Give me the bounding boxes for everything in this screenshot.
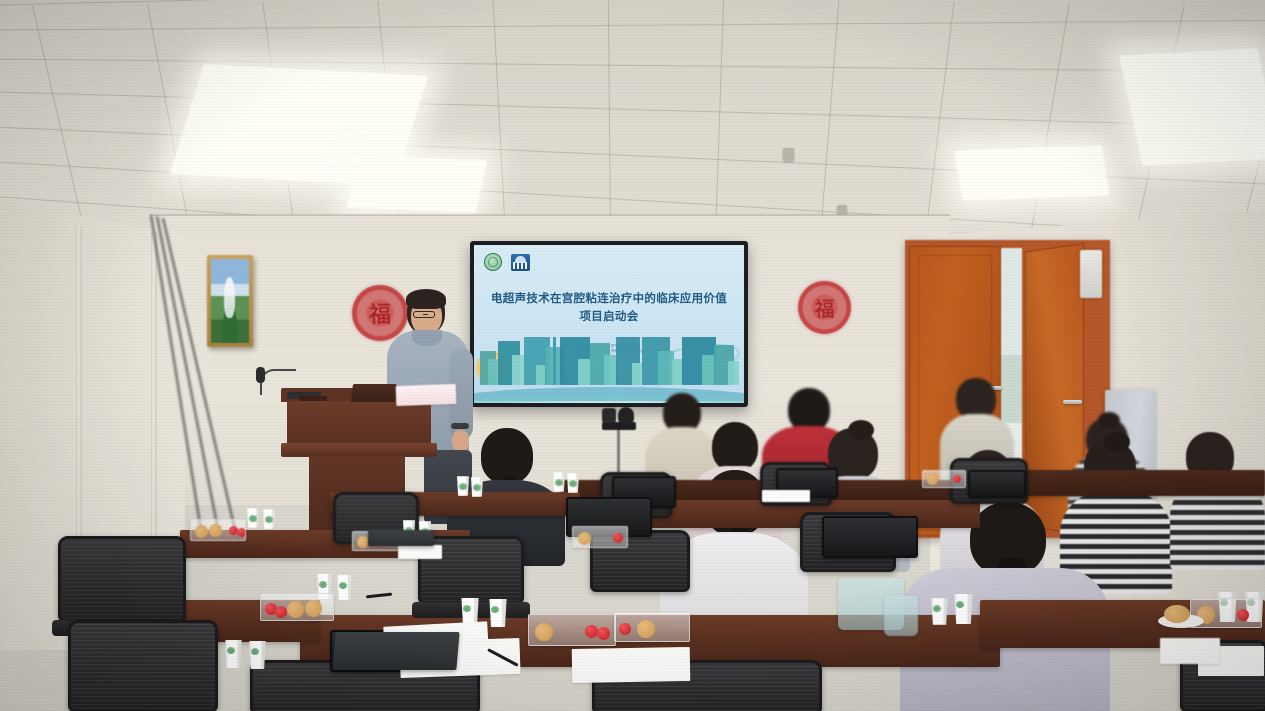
smoke-detector-1 (783, 148, 794, 161)
lectern-notes (396, 384, 457, 406)
cherry-tomato-icon (237, 528, 246, 537)
slide-title-line-1: 电超声技术在宫腔粘连治疗中的临床应用价值 (474, 289, 744, 307)
wall-ceiling-seam (150, 214, 950, 216)
paper-sheet-6 (762, 490, 810, 502)
cherry-tomato-icon (1237, 609, 1249, 621)
ceiling-light-panel-3 (1119, 48, 1265, 165)
chair-backrest (58, 536, 186, 622)
pastry-icon (927, 474, 938, 485)
paper-cup-11[interactable] (224, 640, 243, 668)
cherry-tomato-icon (953, 475, 961, 483)
pastry-icon (195, 525, 208, 538)
framed-landscape-painting (207, 255, 253, 347)
pastry-icon (305, 600, 322, 617)
gooseneck-microphone-arm (260, 369, 296, 395)
snack-box-3[interactable] (572, 526, 628, 548)
papercut-glyph-right: 福 (798, 281, 851, 334)
notepad-1[interactable] (332, 632, 459, 670)
skyline-building (512, 355, 524, 385)
attendee-hair-bun (848, 420, 874, 440)
meeting-room-photo: 福 福 电超声技术在宫腔粘连治疗中的临床应用价值 项目启动会 主办单位：四川大学… (0, 0, 1265, 711)
paper-cup-2[interactable] (262, 509, 276, 529)
camera-bracket (598, 406, 640, 434)
paper-sheet-3 (572, 647, 691, 683)
skyline-building (536, 365, 545, 385)
green-circle-logo-icon (484, 253, 502, 271)
paper-cup-5[interactable] (456, 476, 470, 496)
pastry-icon (578, 532, 591, 545)
pastry-on-plate-1 (1164, 605, 1190, 623)
chair-row1-left2[interactable] (68, 620, 218, 711)
paper-cup-15[interactable] (953, 594, 974, 624)
snack-box-4[interactable] (922, 470, 966, 488)
slide-title: 电超声技术在宫腔粘连治疗中的临床应用价值 项目启动会 (474, 289, 744, 325)
pastry-icon (535, 623, 553, 641)
pastry-icon (1164, 605, 1190, 623)
chair-row1-left[interactable] (58, 536, 186, 622)
snack-box-7[interactable] (614, 612, 690, 642)
red-papercut-medallion-right: 福 (798, 281, 851, 334)
attendee-far-right (1170, 432, 1265, 567)
lectern-ledge (281, 443, 437, 457)
chair-backrest (68, 620, 218, 711)
cherry-tomato-icon (597, 627, 610, 640)
presenter-glasses-icon (413, 311, 435, 318)
skyline-building (632, 363, 642, 385)
presenter-hair (406, 289, 446, 309)
cherry-tomato-icon (619, 623, 631, 635)
ceiling-light-panel-2 (347, 156, 488, 213)
presentation-display[interactable]: 电超声技术在宫腔粘连治疗中的临床应用价值 项目启动会 主办单位：四川大学华西第二… (470, 241, 748, 407)
paper-cup-1[interactable] (246, 508, 260, 528)
camera-mount-plate (602, 422, 636, 430)
camera-icon-2 (618, 407, 634, 423)
attendee-hair-bun (1098, 412, 1120, 428)
lectern-front (287, 401, 431, 445)
notepad-2[interactable] (368, 530, 434, 546)
wall-column-strip-mid (151, 232, 157, 562)
camera-icon-1 (602, 408, 616, 423)
door-handle-right[interactable] (1063, 400, 1082, 404)
skyline-building (728, 361, 739, 385)
snack-box-1[interactable] (190, 519, 246, 541)
skyline-tower-icon (553, 337, 556, 385)
cherry-tomato-icon (585, 625, 598, 638)
pastry-icon (637, 620, 655, 638)
wall-mounted-unit (1080, 250, 1102, 298)
wall-column-strip-left (76, 226, 82, 556)
cherry-tomato-icon (275, 606, 287, 618)
slide-content: 电超声技术在宫腔粘连治疗中的临床应用价值 项目启动会 主办单位：四川大学华西第二… (474, 245, 744, 403)
snack-box-6[interactable] (528, 614, 616, 646)
slide-title-line-2: 项目启动会 (474, 307, 744, 325)
attendee-hair-bun (1104, 432, 1130, 452)
skyline-building (578, 359, 590, 385)
painting-canvas (211, 259, 249, 343)
paper-cup-12[interactable] (248, 641, 267, 669)
laptop-5[interactable] (822, 516, 918, 558)
snack-box-5[interactable] (260, 593, 334, 621)
paper-cup-18[interactable] (930, 598, 949, 625)
skyline-building (488, 359, 498, 385)
ceiling (0, 0, 1265, 232)
paper-cup-6[interactable] (470, 477, 484, 497)
slide-logos (484, 253, 530, 271)
pastry-icon (209, 524, 222, 537)
plastic-bag-2[interactable] (884, 596, 918, 636)
pen-2[interactable] (366, 593, 392, 598)
paper-sheet-5 (398, 545, 442, 559)
paper-cup-14[interactable] (488, 599, 508, 627)
paper-cup-7[interactable] (552, 472, 566, 492)
presenter-collar (412, 330, 442, 346)
paper-cup-10[interactable] (336, 575, 353, 600)
ceiling-light-panel-4 (954, 145, 1109, 200)
cherry-tomato-icon (613, 533, 623, 543)
paper-sheet-7 (1160, 638, 1220, 664)
pastry-icon (287, 601, 304, 618)
microphone-head-icon (256, 367, 265, 383)
table-row-3b (990, 470, 1265, 496)
lectern-laptop[interactable] (351, 384, 397, 402)
blue-hospital-logo-icon (511, 254, 530, 271)
laptop-3[interactable] (968, 470, 1026, 498)
paper-cup-8[interactable] (566, 473, 580, 493)
